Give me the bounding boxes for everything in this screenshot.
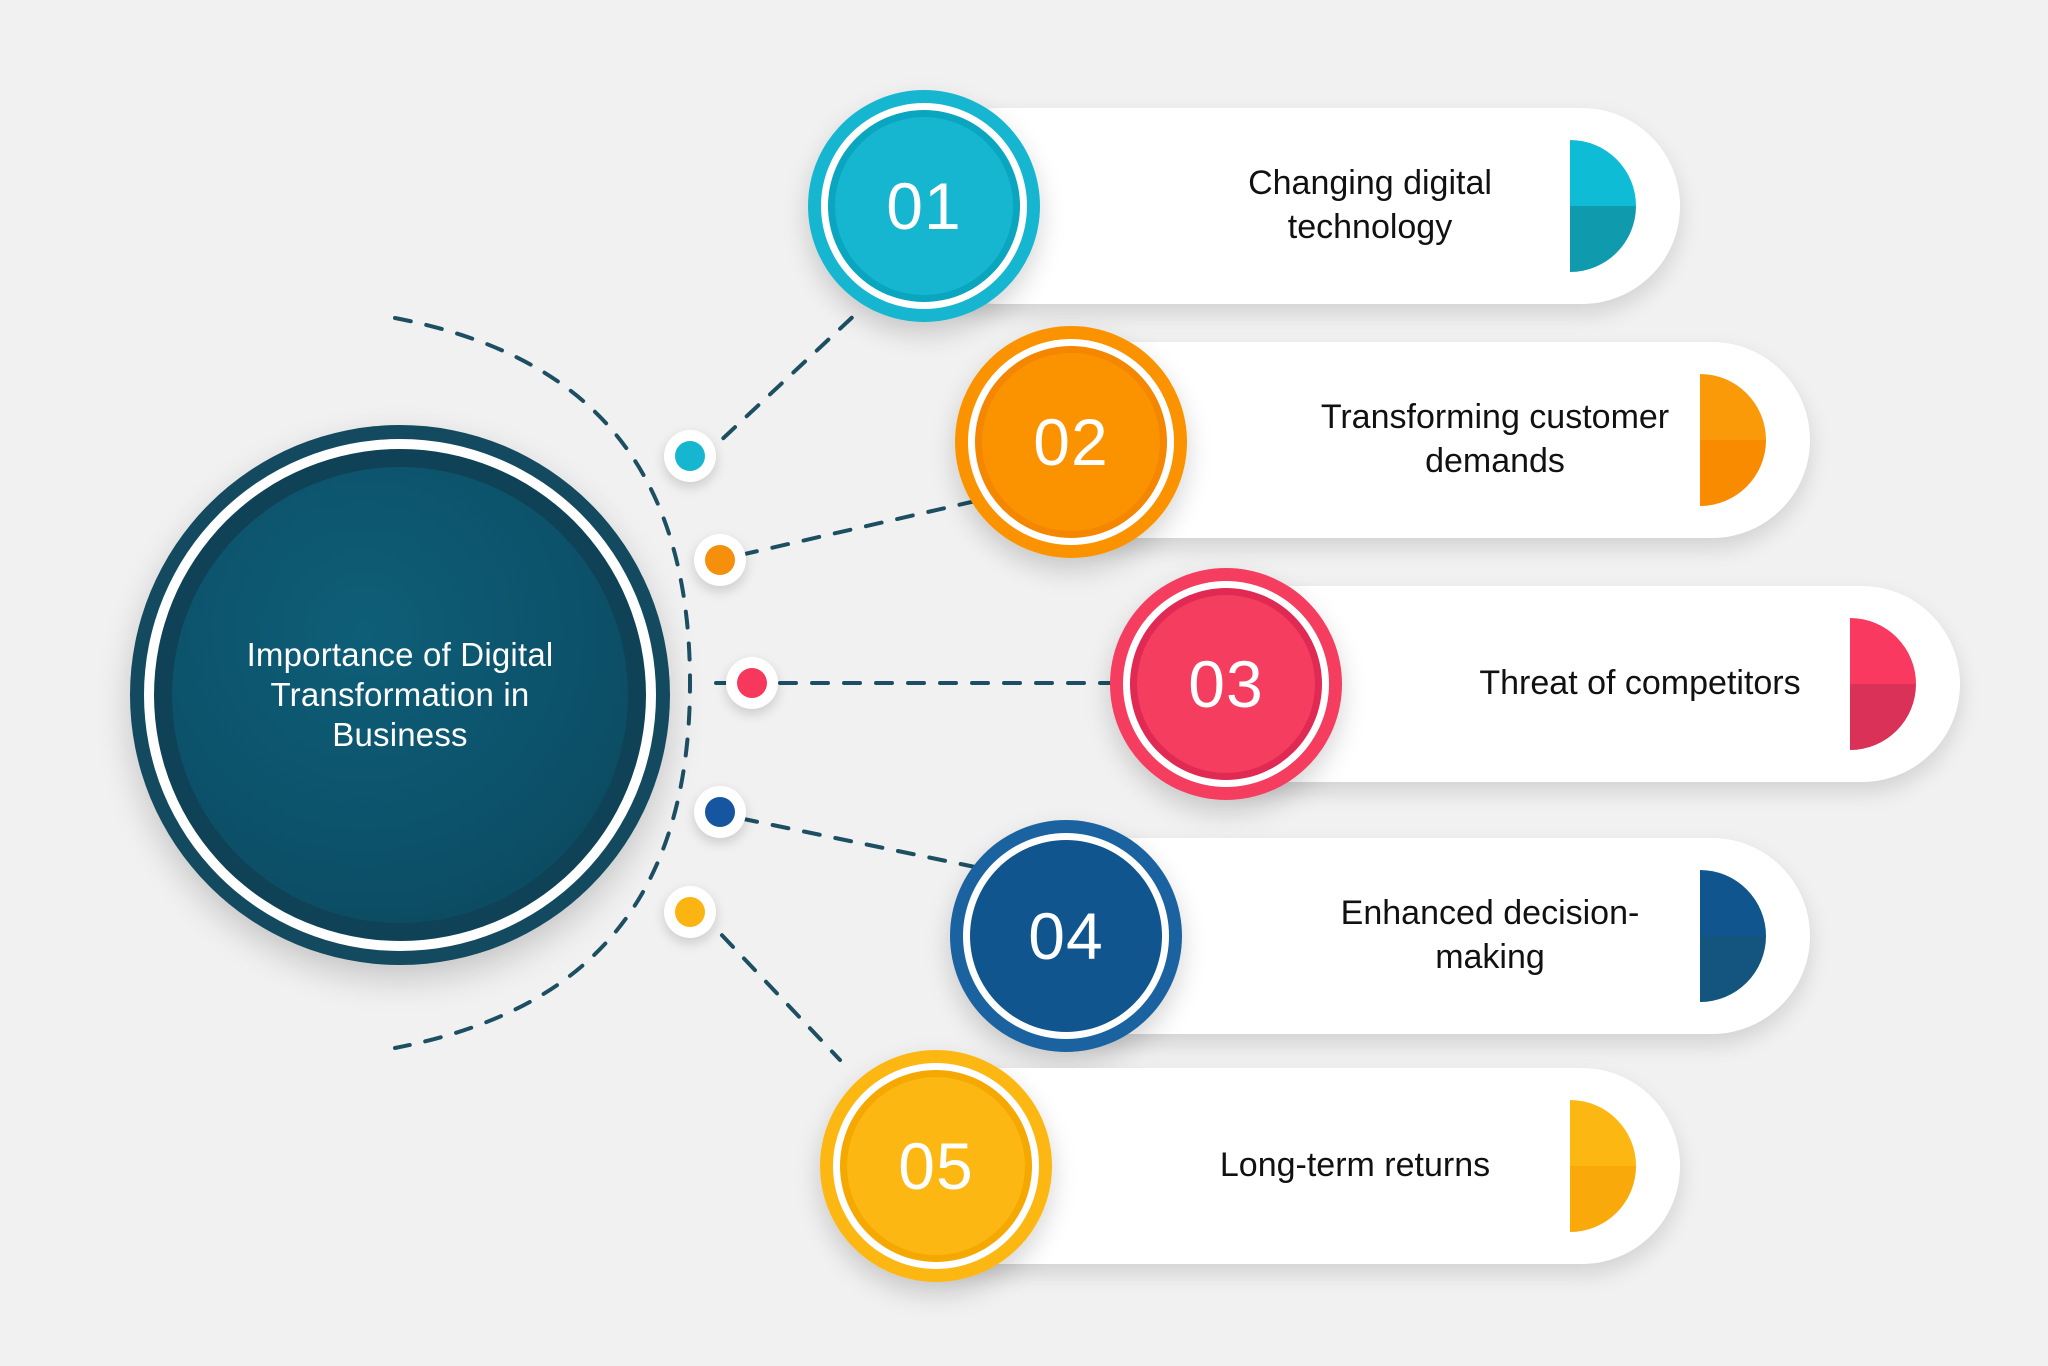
bubble-core-03: 03 (1137, 595, 1315, 773)
accent-bottom-05 (1570, 1166, 1636, 1232)
bubble-03[interactable]: 03 (1110, 568, 1342, 800)
card-label-03-line-1: Threat of competitors (1460, 662, 1820, 706)
accent-half-disc-02 (1700, 374, 1766, 506)
card-label-04: Enhanced decision-making (1310, 892, 1670, 979)
accent-top-05 (1570, 1100, 1636, 1166)
bubble-number-05: 05 (898, 1133, 973, 1199)
bubble-number-03: 03 (1188, 651, 1263, 717)
node-dot-fill-05 (675, 897, 705, 927)
node-dot-fill-02 (705, 545, 735, 575)
spoke-1 (700, 310, 860, 460)
card-label-02-line-1: Transforming customer (1320, 396, 1670, 440)
card-label-05-line-1: Long-term returns (1170, 1144, 1540, 1188)
bubble-core-04: 04 (977, 847, 1155, 1025)
accent-half-disc-05 (1570, 1100, 1636, 1232)
card-label-02: Transforming customer demands (1320, 396, 1670, 483)
bubble-core-02: 02 (982, 353, 1160, 531)
node-dot-04[interactable] (694, 786, 746, 838)
hub-title: Importance of Digital Transformation in … (199, 635, 600, 756)
bubble-02[interactable]: 02 (955, 326, 1187, 558)
accent-bottom-03 (1850, 684, 1916, 750)
accent-top-01 (1570, 140, 1636, 206)
bubble-core-01: 01 (835, 117, 1013, 295)
node-dot-fill-01 (675, 441, 705, 471)
spoke-2 (710, 500, 980, 562)
card-label-04-line-1: Enhanced decision-making (1310, 892, 1670, 979)
hub-title-line-2: Transformation in (199, 675, 600, 715)
bubble-05[interactable]: 05 (820, 1050, 1052, 1282)
accent-bottom-04 (1700, 936, 1766, 1002)
card-label-01-line-1: Changing digital technology (1200, 162, 1540, 249)
accent-half-disc-01 (1570, 140, 1636, 272)
bubble-number-01: 01 (886, 173, 961, 239)
accent-half-disc-03 (1850, 618, 1916, 750)
card-label-01: Changing digital technology (1200, 162, 1540, 249)
bubble-number-04: 04 (1028, 903, 1103, 969)
node-dot-fill-04 (705, 797, 735, 827)
accent-top-04 (1700, 870, 1766, 936)
spoke-4 (710, 812, 980, 868)
hub-title-line-3: Business (199, 715, 600, 755)
accent-top-03 (1850, 618, 1916, 684)
node-dot-01[interactable] (664, 430, 716, 482)
bubble-number-02: 02 (1033, 409, 1108, 475)
accent-bottom-02 (1700, 440, 1766, 506)
spoke-5 (700, 912, 840, 1060)
accent-bottom-01 (1570, 206, 1636, 272)
node-dot-05[interactable] (664, 886, 716, 938)
card-label-03: Threat of competitors (1460, 662, 1820, 706)
node-dot-03[interactable] (726, 657, 778, 709)
node-dot-fill-03 (737, 668, 767, 698)
hub-circle[interactable]: Importance of Digital Transformation in … (130, 425, 670, 965)
hub-title-line-1: Importance of Digital (199, 635, 600, 675)
bubble-core-05: 05 (847, 1077, 1025, 1255)
bubble-04[interactable]: 04 (950, 820, 1182, 1052)
accent-top-02 (1700, 374, 1766, 440)
infographic-canvas: Importance of Digital Transformation in … (0, 0, 2048, 1366)
card-label-02-line-2: demands (1320, 440, 1670, 484)
card-label-05: Long-term returns (1170, 1144, 1540, 1188)
accent-half-disc-04 (1700, 870, 1766, 1002)
node-dot-02[interactable] (694, 534, 746, 586)
bubble-01[interactable]: 01 (808, 90, 1040, 322)
hub-core: Importance of Digital Transformation in … (172, 467, 628, 923)
